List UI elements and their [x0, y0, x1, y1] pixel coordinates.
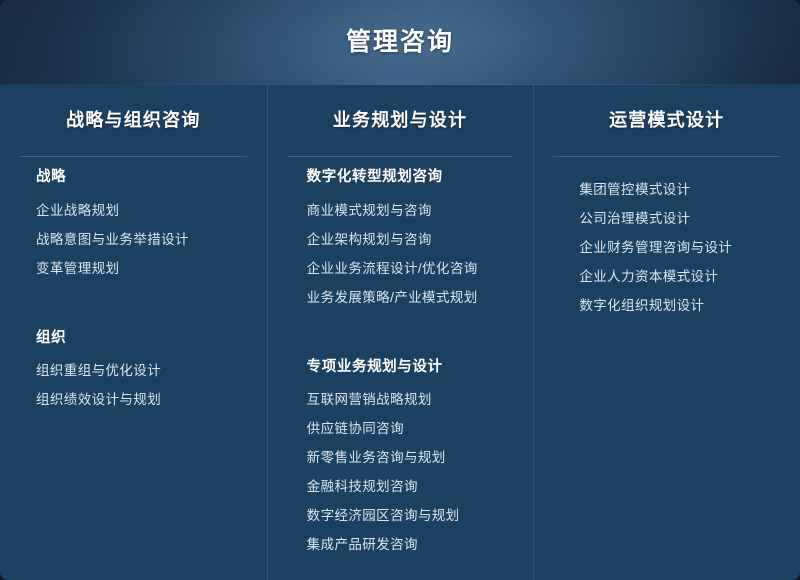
column-body: 数字化转型规划咨询 商业模式规划与咨询 企业架构规划与咨询 企业业务流程设计/优… — [267, 157, 534, 559]
service-item[interactable]: 集团管控模式设计 — [579, 175, 780, 204]
service-item[interactable]: 组织绩效设计与规划 — [36, 385, 247, 414]
consulting-services-panel: 管理咨询 战略与组织咨询 战略 企业战略规划 战略意图与业务举措设计 变革管理规… — [0, 0, 800, 580]
service-item[interactable]: 集成产品研发咨询 — [307, 530, 514, 559]
service-group-title: 组织 — [36, 331, 247, 346]
service-group: 专项业务规划与设计 互联网营销战略规划 供应链协同咨询 新零售业务咨询与规划 金… — [307, 360, 514, 560]
service-group: 组织 组织重组与优化设计 组织绩效设计与规划 — [36, 331, 247, 415]
service-item[interactable]: 企业架构规划与咨询 — [307, 225, 514, 254]
service-item[interactable]: 公司治理模式设计 — [579, 204, 780, 233]
service-item[interactable]: 供应链协同咨询 — [307, 414, 514, 443]
service-item[interactable]: 互联网营销战略规划 — [307, 385, 514, 414]
column-body: 战略 企业战略规划 战略意图与业务举措设计 变革管理规划 组织 组织重组与优化设… — [0, 157, 267, 414]
service-columns: 战略与组织咨询 战略 企业战略规划 战略意图与业务举措设计 变革管理规划 组织 … — [0, 85, 800, 580]
service-item[interactable]: 企业财务管理咨询与设计 — [579, 233, 780, 262]
service-item[interactable]: 变革管理规划 — [36, 254, 247, 283]
panel-header: 管理咨询 — [0, 0, 800, 85]
service-item[interactable]: 数字化组织规划设计 — [579, 291, 780, 320]
column-title: 战略与组织咨询 — [0, 85, 267, 129]
column-title: 运营模式设计 — [533, 85, 800, 129]
service-item[interactable]: 商业模式规划与咨询 — [307, 196, 514, 225]
column-title: 业务规划与设计 — [267, 85, 534, 129]
page-title: 管理咨询 — [346, 30, 454, 55]
service-group: 战略 企业战略规划 战略意图与业务举措设计 变革管理规划 — [36, 170, 247, 283]
service-item[interactable]: 战略意图与业务举措设计 — [36, 225, 247, 254]
service-group-title: 数字化转型规划咨询 — [307, 170, 514, 185]
service-item[interactable]: 业务发展策略/产业模式规划 — [307, 283, 514, 312]
service-group-title: 战略 — [36, 170, 247, 185]
service-item[interactable]: 组织重组与优化设计 — [36, 356, 247, 385]
service-item[interactable]: 金融科技规划咨询 — [307, 472, 514, 501]
service-item[interactable]: 新零售业务咨询与规划 — [307, 443, 514, 472]
service-group-title: 专项业务规划与设计 — [307, 360, 514, 375]
service-item[interactable]: 企业战略规划 — [36, 196, 247, 225]
service-column-operating-model-design: 运营模式设计 集团管控模式设计 公司治理模式设计 企业财务管理咨询与设计 企业人… — [533, 85, 800, 580]
service-column-strategy-organization: 战略与组织咨询 战略 企业战略规划 战略意图与业务举措设计 变革管理规划 组织 … — [0, 85, 267, 580]
column-body: 集团管控模式设计 公司治理模式设计 企业财务管理咨询与设计 企业人力资本模式设计… — [533, 157, 800, 320]
service-column-business-planning-design: 业务规划与设计 数字化转型规划咨询 商业模式规划与咨询 企业架构规划与咨询 企业… — [267, 85, 534, 580]
service-group: 数字化转型规划咨询 商业模式规划与咨询 企业架构规划与咨询 企业业务流程设计/优… — [307, 170, 514, 312]
service-group: 集团管控模式设计 公司治理模式设计 企业财务管理咨询与设计 企业人力资本模式设计… — [579, 175, 780, 320]
service-item[interactable]: 企业人力资本模式设计 — [579, 262, 780, 291]
service-item[interactable]: 数字经济园区咨询与规划 — [307, 501, 514, 530]
service-item[interactable]: 企业业务流程设计/优化咨询 — [307, 254, 514, 283]
